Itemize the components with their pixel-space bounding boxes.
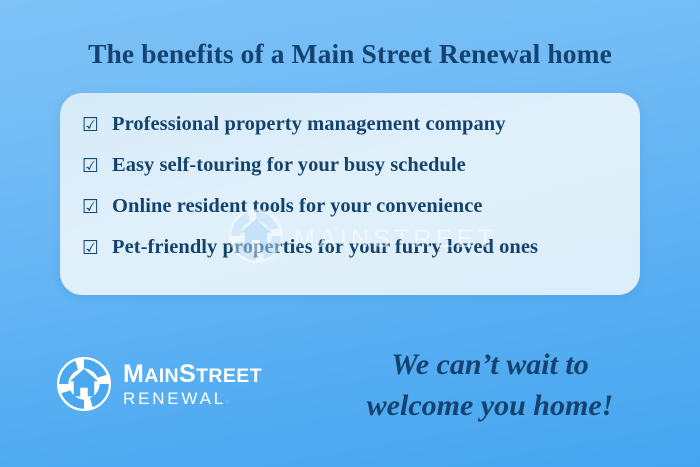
page-title: The benefits of a Main Street Renewal ho…	[0, 38, 700, 70]
checkbox-checked-icon: ☑	[82, 239, 112, 258]
list-item-label: Professional property management company	[112, 113, 506, 136]
brand-subtitle: RENEWAL.	[123, 390, 262, 407]
brand-name-ain: AIN	[144, 365, 179, 387]
checkbox-checked-icon: ☑	[82, 157, 112, 176]
mainstreet-logo-icon	[57, 357, 111, 411]
list-item-label: Online resident tools for your convenien…	[112, 195, 483, 218]
checkbox-checked-icon: ☑	[82, 198, 112, 217]
brand-wordmark: MAINSTREET RENEWAL.	[123, 362, 262, 407]
brand-subtitle-text: RENEWAL	[123, 389, 226, 408]
brand-name-m: M	[123, 360, 144, 388]
promotional-graphic: The benefits of a Main Street Renewal ho…	[0, 0, 700, 467]
brand-name: MAINSTREET	[123, 362, 262, 387]
list-item: ☑ Online resident tools for your conveni…	[82, 195, 628, 236]
benefits-card: ☑ Professional property management compa…	[60, 93, 640, 295]
checkbox-checked-icon: ☑	[82, 116, 112, 135]
tagline: We can’t wait to welcome you home!	[320, 344, 660, 427]
tagline-line-2: welcome you home!	[320, 385, 660, 426]
list-item-label: Pet-friendly properties for your furry l…	[112, 236, 538, 259]
brand-logo: MAINSTREET RENEWAL.	[57, 357, 262, 411]
list-item: ☑ Professional property management compa…	[82, 113, 628, 154]
tagline-line-1: We can’t wait to	[320, 344, 660, 385]
brand-name-s: S	[179, 360, 196, 388]
brand-name-treet: TREET	[196, 365, 262, 387]
registered-mark: .	[226, 394, 229, 404]
list-item-label: Easy self-touring for your busy schedule	[112, 154, 466, 177]
benefits-list: ☑ Professional property management compa…	[82, 113, 628, 277]
list-item: ☑ Easy self-touring for your busy schedu…	[82, 154, 628, 195]
list-item: ☑ Pet-friendly properties for your furry…	[82, 236, 628, 277]
